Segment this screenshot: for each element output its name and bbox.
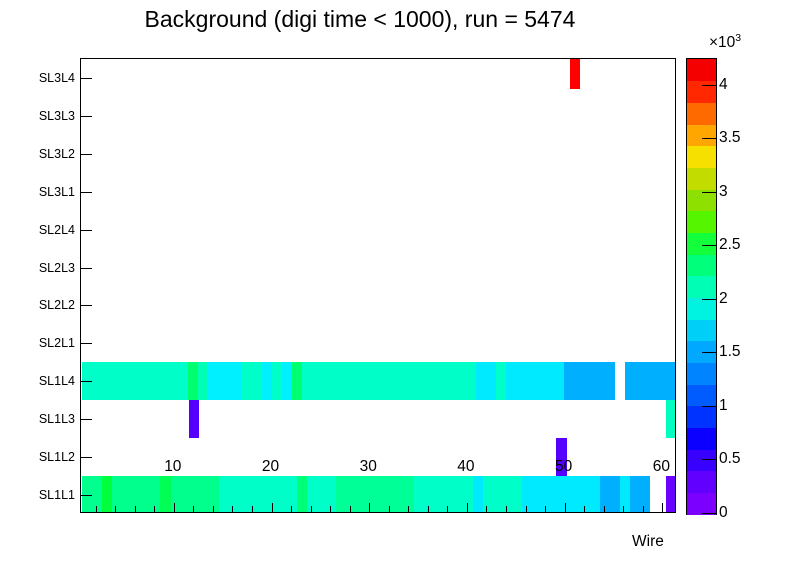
y-tick: [81, 381, 92, 382]
palette-band: [687, 59, 716, 81]
y-tick: [81, 268, 92, 269]
x-tick-minor: [447, 506, 448, 512]
x-tick-minor: [213, 506, 214, 512]
y-tick: [81, 192, 92, 193]
x-tick-minor: [330, 506, 331, 512]
x-tick-major: [662, 503, 663, 512]
palette-band: [687, 102, 716, 124]
z-tick-label-4: 4: [719, 76, 728, 94]
z-tick: [702, 352, 716, 353]
cell-sl1l4-e: [242, 362, 262, 400]
cell-sl1l1-k: [473, 476, 483, 512]
cell-sl1l1-f: [219, 476, 297, 512]
z-tick: [702, 192, 716, 193]
cell-sl1l4-a: [82, 362, 188, 400]
y-tick: [81, 154, 92, 155]
y-axis-label-sl1l1: SL1L1: [7, 488, 75, 502]
z-axis-exponent: ×103: [709, 32, 741, 52]
z-tick-label-3: 3: [719, 183, 728, 201]
x-tick-minor: [428, 506, 429, 512]
cell-sl1l1-c: [112, 476, 160, 512]
z-exponent-base: ×10: [709, 34, 735, 51]
x-tick-minor: [135, 506, 136, 512]
palette-band: [687, 319, 716, 341]
color-palette-bar: [686, 58, 717, 515]
x-tick-major: [272, 503, 273, 512]
palette-band: [687, 254, 716, 276]
x-tick-minor: [232, 506, 233, 512]
y-axis-label-sl2l1: SL2L1: [7, 336, 75, 350]
y-tick: [81, 457, 92, 458]
x-tick-minor: [408, 506, 409, 512]
palette-band: [687, 124, 716, 146]
x-tick-label-60: 60: [653, 458, 670, 476]
cell-sl1l3-w12: [189, 400, 199, 438]
y-axis-label-sl3l4: SL3L4: [7, 71, 75, 85]
y-axis-label-sl3l1: SL3L1: [7, 185, 75, 199]
y-tick: [81, 495, 92, 496]
palette-band: [687, 362, 716, 384]
root-canvas: Background (digi time < 1000), run = 547…: [0, 0, 796, 572]
x-tick-major: [174, 503, 175, 512]
z-tick-label-3-5: 3.5: [719, 129, 741, 147]
palette-band: [687, 211, 716, 233]
z-tick: [702, 245, 716, 246]
cell-sl1l4-f: [262, 362, 272, 400]
y-axis-label-sl3l3: SL3L3: [7, 109, 75, 123]
cell-sl1l1-o: [620, 476, 630, 512]
palette-band: [687, 146, 716, 168]
z-tick-label-1-5: 1.5: [719, 343, 741, 361]
z-tick: [702, 138, 716, 139]
cell-sl1l1-a: [82, 476, 102, 512]
cell-sl1l4-g: [272, 362, 282, 400]
y-tick: [81, 419, 92, 420]
x-tick-minor: [252, 506, 253, 512]
z-tick-label-0: 0: [719, 504, 728, 522]
z-tick: [702, 299, 716, 300]
cell-sl1l4-l: [496, 362, 506, 400]
y-tick: [81, 116, 92, 117]
cell-sl1l1-p: [630, 476, 650, 512]
palette-band: [687, 297, 716, 319]
y-axis-label-sl1l4: SL1L4: [7, 374, 75, 388]
x-tick-major: [467, 503, 468, 512]
z-tick-label-2: 2: [719, 290, 728, 308]
x-tick-minor: [623, 506, 624, 512]
x-tick-major: [369, 503, 370, 512]
z-tick: [702, 406, 716, 407]
z-exponent-power: 3: [735, 32, 741, 44]
cell-sl1l1-q: [666, 476, 675, 512]
y-tick: [81, 343, 92, 344]
cell-sl1l1-j: [414, 476, 473, 512]
heatmap-cells: [81, 59, 675, 512]
y-tick: [81, 78, 92, 79]
y-tick: [81, 305, 92, 306]
palette-band: [687, 471, 716, 493]
x-axis-title: Wire: [632, 533, 664, 551]
cell-sl1l4-h: [282, 362, 292, 400]
cell-sl1l1-l: [483, 476, 522, 512]
x-tick-label-20: 20: [262, 458, 279, 476]
x-tick-minor: [643, 506, 644, 512]
y-axis-label-sl1l2: SL1L2: [7, 450, 75, 464]
y-axis-label-sl3l2: SL3L2: [7, 147, 75, 161]
x-tick-minor: [545, 506, 546, 512]
y-axis-label-sl2l3: SL2L3: [7, 261, 75, 275]
y-axis-label-sl1l3: SL1L3: [7, 412, 75, 426]
y-axis-label-sl2l4: SL2L4: [7, 223, 75, 237]
z-tick-label-0-5: 0.5: [719, 450, 741, 468]
palette-band: [687, 406, 716, 428]
z-tick-label-1: 1: [719, 397, 728, 415]
palette-band: [687, 427, 716, 449]
cell-sl1l1-e: [171, 476, 219, 512]
y-axis-label-sl2l2: SL2L2: [7, 298, 75, 312]
cell-sl1l4-o: [625, 362, 675, 400]
cell-sl1l1-g: [297, 476, 307, 512]
z-tick-label-2-5: 2.5: [719, 236, 741, 254]
x-tick-label-10: 10: [164, 458, 181, 476]
x-tick-label-50: 50: [555, 458, 572, 476]
cell-sl3l4-w50: [570, 59, 580, 89]
cell-sl1l4-c: [198, 362, 208, 400]
cell-sl1l4-i: [292, 362, 302, 400]
cell-sl1l4-d: [208, 362, 242, 400]
x-tick-minor: [389, 506, 390, 512]
z-tick: [702, 459, 716, 460]
x-tick-major: [565, 503, 566, 512]
cell-sl1l3-right: [666, 400, 675, 438]
cell-sl1l1-d: [160, 476, 171, 512]
x-tick-minor: [526, 506, 527, 512]
cell-sl1l1-i: [336, 476, 414, 512]
cell-sl1l1-b: [102, 476, 112, 512]
x-tick-minor: [350, 506, 351, 512]
palette-band: [687, 232, 716, 254]
x-tick-minor: [115, 506, 116, 512]
x-tick-minor: [604, 506, 605, 512]
x-tick-minor: [486, 506, 487, 512]
chart-title: Background (digi time < 1000), run = 547…: [0, 6, 720, 33]
cell-sl1l4-j: [302, 362, 476, 400]
y-tick: [81, 230, 92, 231]
x-tick-minor: [291, 506, 292, 512]
palette-band: [687, 492, 716, 514]
x-tick-label-30: 30: [360, 458, 377, 476]
x-tick-minor: [584, 506, 585, 512]
z-tick: [702, 85, 716, 86]
palette-band: [687, 167, 716, 189]
x-tick-minor: [193, 506, 194, 512]
x-tick-minor: [506, 506, 507, 512]
cell-sl1l4-n: [564, 362, 615, 400]
x-tick-minor: [154, 506, 155, 512]
cell-sl1l4-b: [188, 362, 198, 400]
cell-sl1l4-m: [506, 362, 564, 400]
cell-sl1l4-k: [476, 362, 496, 400]
palette-band: [687, 384, 716, 406]
x-tick-minor: [96, 506, 97, 512]
x-tick-label-40: 40: [457, 458, 474, 476]
cell-sl1l1-m: [522, 476, 600, 512]
z-tick: [702, 513, 716, 514]
palette-band: [687, 276, 716, 298]
plot-frame: SL3L4SL3L3SL3L2SL3L1SL2L4SL2L3SL2L2SL2L1…: [80, 58, 676, 513]
x-tick-minor: [311, 506, 312, 512]
